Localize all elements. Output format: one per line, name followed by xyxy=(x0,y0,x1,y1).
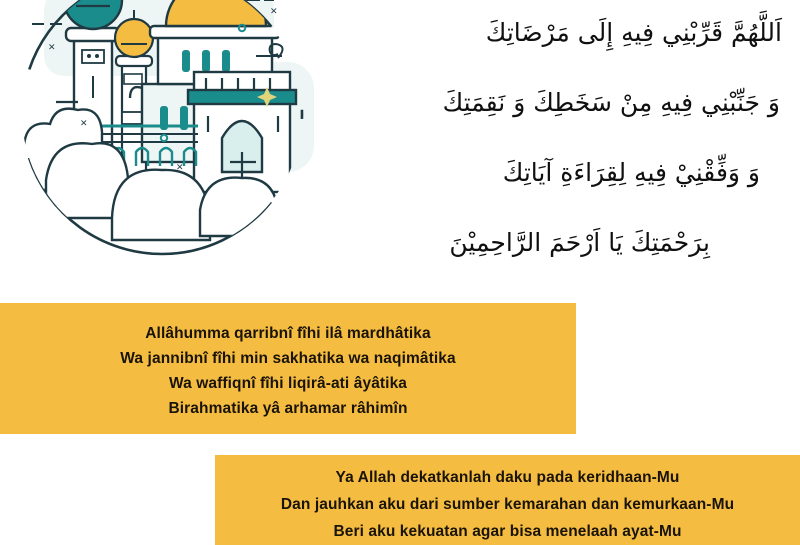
translation-line-2: Dan jauhkan aku dari sumber kemarahan da… xyxy=(281,491,734,518)
arabic-line-3: وَ وَفِّقْنِيْ فِيهِ لِقِرَاءَةِ آيَاتِك… xyxy=(503,138,800,208)
decorative-marks: ✕ ✕ ✕ ✕ ✕ xyxy=(32,0,286,173)
transliteration-line-1: Allâhumma qarribnî fîhi ilâ mardhâtika xyxy=(145,321,430,346)
mosque-main-hall xyxy=(130,84,254,162)
golden-dome-building xyxy=(150,0,280,84)
left-minaret xyxy=(64,0,122,188)
svg-text:✕: ✕ xyxy=(270,7,278,17)
transliteration-line-2: Wa jannibnî fîhi min sakhatika wa naqimâ… xyxy=(120,346,455,371)
sparkle-icon xyxy=(257,0,286,107)
arabic-line-4: بِرَحْمَتِكَ يَا اَرْحَمَ الرَّاحِمِيْنَ xyxy=(449,208,800,278)
translation-line-1: Ya Allah dekatkanlah daku pada keridhaan… xyxy=(336,464,680,491)
cloud-detail-lines xyxy=(56,102,234,254)
translation-panel: Ya Allah dekatkanlah daku pada keridhaan… xyxy=(215,455,800,545)
small-minaret xyxy=(115,10,153,184)
mosque-gate-tower xyxy=(188,72,296,192)
transliteration-line-4: Birahmatika yâ arhamar râhimîn xyxy=(168,396,407,421)
mosque-illustration: ✕ ✕ ✕ ✕ ✕ xyxy=(0,0,324,266)
cloud-cluster xyxy=(24,109,278,240)
poster-page: ✕ ✕ ✕ ✕ ✕ اَللَّهُمَّ قَرِّبْنِي فِيهِ إ… xyxy=(0,0,800,545)
arabic-line-1: اَللَّهُمَّ قَرِّبْنِي فِيهِ إِلَى مَرْض… xyxy=(486,0,800,68)
svg-text:✕: ✕ xyxy=(48,43,56,53)
transliteration-panel: Allâhumma qarribnî fîhi ilâ mardhâtika W… xyxy=(0,303,576,434)
mosque-illustration-svg: ✕ ✕ ✕ ✕ ✕ xyxy=(0,0,324,266)
arabic-dua-text: اَللَّهُمَّ قَرِّبْنِي فِيهِ إِلَى مَرْض… xyxy=(330,0,800,286)
translation-line-3: Beri aku kekuatan agar bisa menelaah aya… xyxy=(333,518,681,545)
badge-circle xyxy=(22,0,302,254)
transliteration-line-3: Wa waffiqnî fîhi liqirâ-ati âyâtika xyxy=(169,371,407,396)
background-blobs xyxy=(44,0,314,172)
mosque-arcade xyxy=(86,126,198,166)
svg-text:✕: ✕ xyxy=(80,119,88,129)
svg-text:✕: ✕ xyxy=(176,163,184,173)
arabic-line-2: وَ جَنِّبْنِي فِيهِ مِنْ سَخَطِكَ وَ نَق… xyxy=(443,68,800,138)
